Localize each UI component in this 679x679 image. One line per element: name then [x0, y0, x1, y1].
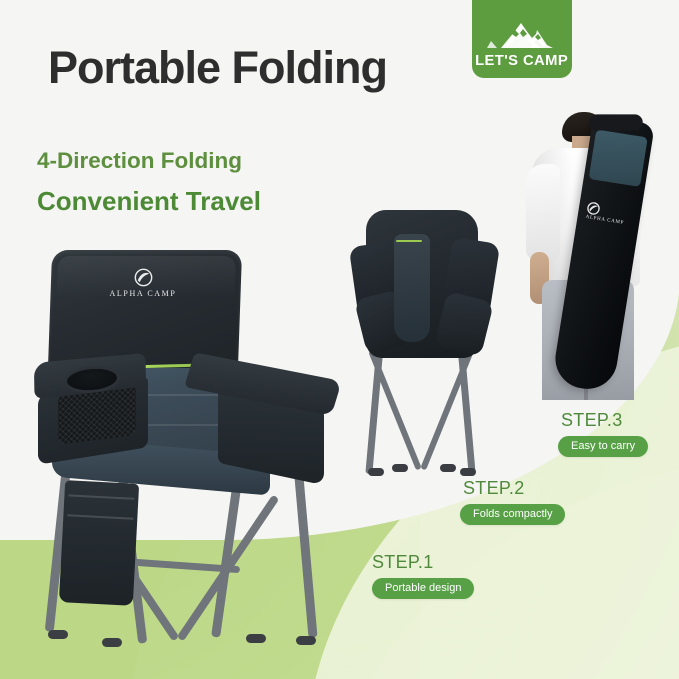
- step-label-2: STEP.2 Folds compactly: [460, 478, 565, 525]
- folded-foot-4: [440, 464, 456, 472]
- chair-brand-text: ALPHA CAMP: [88, 289, 198, 298]
- carry-bag-top-panel: [589, 129, 648, 187]
- alpha-camp-circle-icon: [134, 268, 153, 287]
- figure-person-carrying: ALPHA CAMP: [520, 112, 660, 400]
- lets-camp-logo-badge: LET'S CAMP: [472, 0, 572, 78]
- step-3-pill: Easy to carry: [558, 436, 648, 457]
- subtitle-primary: 4-Direction Folding: [37, 148, 242, 174]
- folded-foot-2: [460, 468, 476, 476]
- step-1-pill: Portable design: [372, 578, 474, 599]
- chair-foot-3: [246, 634, 266, 643]
- step-label-1: STEP.1 Portable design: [372, 552, 474, 599]
- step-2-title: STEP.2: [463, 478, 565, 499]
- chair-mesh-pocket: [58, 387, 136, 445]
- subtitle-secondary: Convenient Travel: [37, 186, 261, 217]
- carry-bag-strap: [589, 114, 643, 130]
- chair-side-pocket: [59, 480, 139, 606]
- infographic-canvas: LET'S CAMP Portable Folding 4-Direction …: [0, 0, 679, 679]
- chair-foot-1: [48, 630, 68, 639]
- step-3-title: STEP.3: [561, 410, 648, 431]
- step-1-title: STEP.1: [372, 552, 474, 573]
- folded-center-fabric: [394, 234, 430, 342]
- figure-chair-folded: [352, 210, 502, 492]
- figure-chair-open: ALPHA CAMP: [28, 246, 380, 646]
- step-label-3: STEP.3 Easy to carry: [558, 410, 648, 457]
- carry-bag-brand-text: ALPHA CAMP: [585, 215, 624, 226]
- alpha-camp-circle-icon: [586, 201, 601, 216]
- folded-lime-trim: [396, 240, 422, 242]
- folded-foot-3: [392, 464, 408, 472]
- step-2-pill: Folds compactly: [460, 504, 565, 525]
- carry-bag-brand-mark: ALPHA CAMP: [585, 201, 626, 226]
- chair-foot-4: [296, 636, 316, 645]
- person-sleeve-left: [526, 164, 560, 260]
- chair-brand-mark: ALPHA CAMP: [88, 268, 198, 298]
- page-title: Portable Folding: [48, 42, 387, 94]
- chair-foot-2: [102, 638, 122, 647]
- pocket-seam-2: [67, 514, 133, 519]
- lets-camp-logo-text: LET'S CAMP: [475, 53, 568, 69]
- folded-foot-1: [368, 468, 384, 476]
- mountain-icon: [485, 21, 559, 51]
- pocket-seam-1: [68, 494, 134, 499]
